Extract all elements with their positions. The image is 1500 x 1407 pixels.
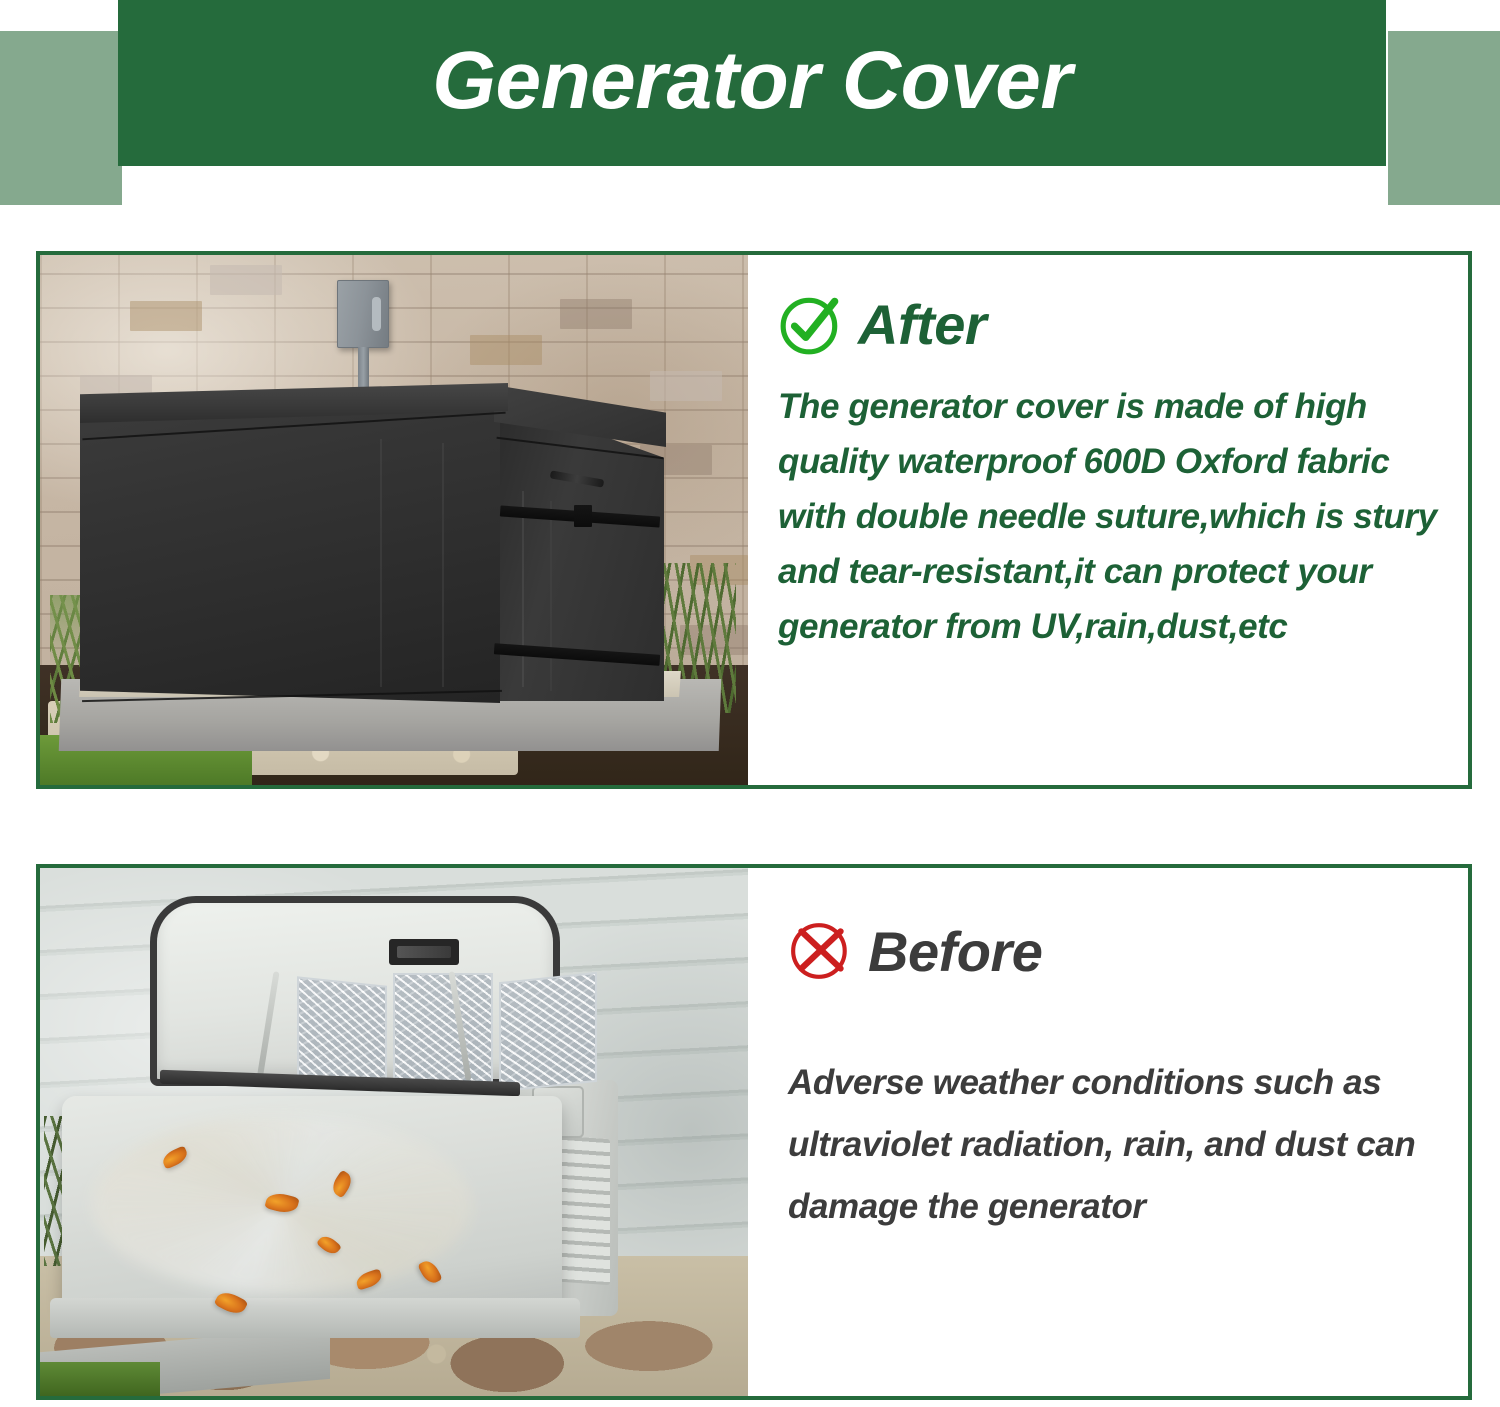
lid-handle-latch xyxy=(389,939,459,965)
insulation-foil-panel xyxy=(499,972,597,1092)
insulation-foil-panel xyxy=(393,973,493,1085)
generator-cover xyxy=(80,381,660,711)
grass-patch xyxy=(40,1362,160,1396)
header-accent-right-bar xyxy=(1388,31,1500,205)
after-heading-label: After xyxy=(858,292,986,357)
before-heading-label: Before xyxy=(868,919,1042,984)
after-body-text: The generator cover is made of high qual… xyxy=(778,379,1448,654)
after-photo xyxy=(40,255,748,785)
header-accent-left-bar xyxy=(0,31,122,205)
insulation-foil-panel xyxy=(297,976,387,1089)
cover-fold-crease xyxy=(522,491,524,687)
before-body-text: Adverse weather conditions such as ultra… xyxy=(788,1052,1448,1238)
page-header: Generator Cover xyxy=(0,0,1500,210)
before-photo xyxy=(40,868,748,1396)
brick-tint xyxy=(210,265,282,295)
cover-fold-crease xyxy=(380,439,382,687)
lid-support-strut xyxy=(256,971,279,1081)
brick-tint xyxy=(560,299,632,329)
before-heading-row: Before xyxy=(788,908,1448,994)
brick-tint xyxy=(470,335,542,365)
generator-open-lid xyxy=(150,896,560,1086)
circle-x-icon xyxy=(788,918,854,984)
brick-tint xyxy=(650,371,722,401)
before-copy: Before Adverse weather conditions such a… xyxy=(748,868,1468,1396)
after-panel: After The generator cover is made of hig… xyxy=(36,251,1472,789)
circle-check-icon xyxy=(778,291,844,357)
generator-base-pad xyxy=(50,1298,580,1338)
cover-front-face xyxy=(80,397,500,703)
brick-tint xyxy=(130,301,202,331)
cover-fold-crease xyxy=(442,443,444,687)
cover-strap-buckle xyxy=(574,505,592,527)
after-heading-row: After xyxy=(778,281,1448,367)
before-panel: Before Adverse weather conditions such a… xyxy=(36,864,1472,1400)
electrical-meter-box xyxy=(337,280,389,348)
header-title-bar: Generator Cover xyxy=(118,0,1386,166)
cover-fold-crease xyxy=(550,501,552,691)
after-copy: After The generator cover is made of hig… xyxy=(748,255,1468,785)
page-title: Generator Cover xyxy=(432,34,1072,128)
